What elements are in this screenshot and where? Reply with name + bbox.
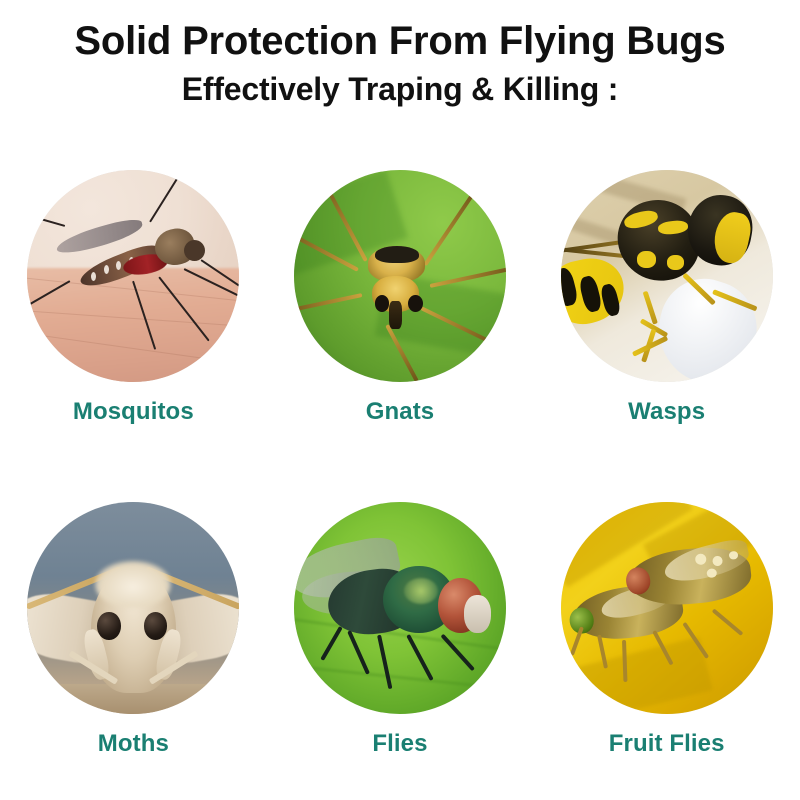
- bug-image-moths: [27, 502, 239, 714]
- fly-leg: [441, 634, 475, 671]
- fly-leg: [320, 626, 343, 661]
- bug-label-mosquitos: Mosquitos: [73, 400, 194, 424]
- bug-label-moths: Moths: [98, 732, 169, 756]
- bug-card-wasps: Wasps: [533, 170, 800, 424]
- bug-label-gnats: Gnats: [366, 400, 435, 424]
- mosquito-illustration: [27, 170, 239, 382]
- moth-thorax-fur: [95, 561, 171, 608]
- infographic-page: Solid Protection From Flying Bugs Effect…: [0, 0, 800, 800]
- mosquito-leg: [149, 170, 184, 222]
- white-surface: [645, 268, 769, 382]
- bug-grid: Mosquitos: [0, 170, 800, 756]
- fly-leg: [407, 634, 434, 681]
- bug-card-fruit-flies: Fruit Flies: [533, 502, 800, 756]
- fly-leg: [377, 635, 392, 690]
- bug-card-mosquitos: Mosquitos: [0, 170, 267, 424]
- page-title: Solid Protection From Flying Bugs: [0, 18, 800, 64]
- petal-shadow: [561, 637, 713, 714]
- fruit-fly-leg: [712, 608, 744, 636]
- heading-block: Solid Protection From Flying Bugs Effect…: [0, 0, 800, 108]
- bug-card-gnats: Gnats: [267, 170, 534, 424]
- abdomen-band: [91, 272, 96, 281]
- bug-image-fruit-flies: [561, 502, 773, 714]
- gnat-illustration: [294, 170, 506, 382]
- moth-illustration: [27, 502, 239, 714]
- fruit-flies-illustration: [561, 502, 773, 714]
- gnat-thorax-marking: [375, 246, 420, 263]
- mosquito-leg: [27, 205, 65, 227]
- abdomen-band: [104, 265, 109, 274]
- thorax-yellow-marking: [637, 251, 656, 268]
- fly-illustration: [294, 502, 506, 714]
- bug-label-flies: Flies: [372, 732, 427, 756]
- bug-image-wasps: [561, 170, 773, 382]
- moth-eye-left: [97, 612, 120, 640]
- gnat-mouthparts: [389, 301, 402, 329]
- fruit-fly-upper: [626, 542, 754, 610]
- wasp-illustration: [561, 170, 773, 382]
- thorax-yellow-marking: [667, 255, 684, 270]
- bug-card-moths: Moths: [0, 502, 267, 756]
- bug-label-fruit-flies: Fruit Flies: [609, 732, 725, 756]
- gnat-leg: [429, 266, 506, 288]
- thorax-iridescent-shine: [404, 578, 438, 603]
- fly-face: [464, 595, 492, 633]
- fly-leg: [347, 630, 370, 674]
- mosquito-head: [184, 240, 205, 261]
- gnat-leg: [424, 187, 479, 267]
- bug-image-mosquitos: [27, 170, 239, 382]
- gnat-leg: [294, 293, 362, 314]
- bug-image-flies: [294, 502, 506, 714]
- bug-label-wasps: Wasps: [628, 400, 705, 424]
- page-subtitle: Effectively Traping & Killing :: [0, 70, 800, 108]
- bug-card-flies: Flies: [267, 502, 534, 756]
- bug-image-gnats: [294, 170, 506, 382]
